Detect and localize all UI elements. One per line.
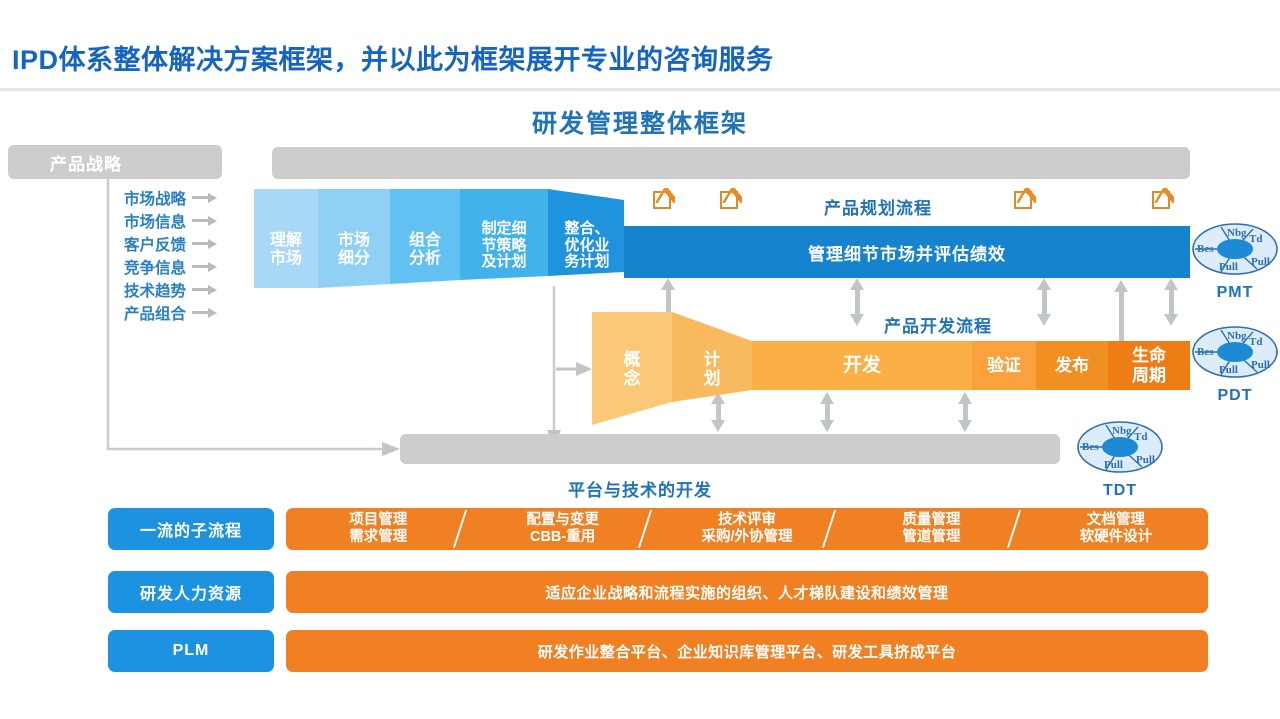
subprocess-cell[interactable]: 技术评审采购/外协管理 xyxy=(655,512,839,546)
funnel-stage-market-segmentation[interactable]: 市场细分 xyxy=(318,225,390,275)
input-label: 技术趋势 xyxy=(124,279,186,301)
team-wheel-icon: Nbg Td Bes Pull Pull xyxy=(1076,420,1164,476)
funnel-stage-integrate-optimize[interactable]: 整合、优化业务计划 xyxy=(550,215,624,277)
team-tdt[interactable]: Nbg Td Bes Pull Pull TDT xyxy=(1075,420,1165,500)
dev-stage-label: 验证 xyxy=(987,356,1021,375)
checkmark-icon xyxy=(1014,191,1032,209)
team-label: PDT xyxy=(1190,387,1280,405)
dev-stage-concept[interactable]: 概念 xyxy=(600,345,664,393)
arrow-right-icon xyxy=(192,262,218,272)
row-plm-key[interactable]: PLM xyxy=(108,630,274,672)
funnel-stage-portfolio-analysis[interactable]: 组合分析 xyxy=(390,225,460,275)
team-label: TDT xyxy=(1075,482,1165,500)
dev-stage-develop[interactable]: 开发 xyxy=(752,341,972,390)
svg-text:Pull: Pull xyxy=(1251,256,1270,268)
input-label: 产品组合 xyxy=(124,302,186,324)
checkmark-icon xyxy=(720,191,738,209)
dev-stage-lifecycle[interactable]: 生命周期 xyxy=(1108,341,1190,390)
svg-text:Bes: Bes xyxy=(1197,243,1214,255)
input-row: 技术趋势 xyxy=(124,278,218,301)
arrow-right-icon xyxy=(192,285,218,295)
funnel-stage-label: 整合、优化业务计划 xyxy=(564,221,609,271)
strategy-inputs: 市场战略 市场信息 客户反馈 竞争信息 技术趋势 产品组合 xyxy=(124,186,218,324)
arrow-right-icon xyxy=(192,239,218,249)
svg-text:Bes: Bes xyxy=(1197,346,1214,358)
funnel-stage-understand-market[interactable]: 理解市场 xyxy=(254,225,318,275)
input-row: 市场信息 xyxy=(124,209,218,232)
svg-text:Nbg: Nbg xyxy=(1112,425,1132,437)
product-strategy-box[interactable]: 产品战略 xyxy=(8,145,222,179)
dev-stage-label: 概念 xyxy=(624,350,641,388)
strategy-connector-arrow xyxy=(382,442,400,456)
row-subprocess-body: 项目管理需求管理 配置与变更CBB-重用 技术评审采购/外协管理 质量管理管道管… xyxy=(286,508,1208,550)
row-subprocess-key[interactable]: 一流的子流程 xyxy=(108,508,274,550)
development-process-label: 产品开发流程 xyxy=(884,312,992,337)
svg-text:Pull: Pull xyxy=(1251,359,1270,371)
svg-text:Pull: Pull xyxy=(1136,454,1155,466)
input-label: 客户反馈 xyxy=(124,233,186,255)
row-hr-body[interactable]: 适应企业战略和流程实施的组织、人才梯队建设和绩效管理 xyxy=(286,571,1208,613)
input-label: 竞争信息 xyxy=(124,256,186,278)
dev-stage-label: 计划 xyxy=(704,350,721,388)
input-label: 市场战略 xyxy=(124,187,186,209)
input-row: 市场战略 xyxy=(124,186,218,209)
subprocess-cell[interactable]: 文档管理软硬件设计 xyxy=(1024,512,1208,546)
svg-text:Nbg: Nbg xyxy=(1227,227,1247,239)
svg-text:Td: Td xyxy=(1249,336,1262,348)
team-wheel-icon: Nbg Td Bes Pull Pull xyxy=(1191,222,1279,278)
svg-text:Pull: Pull xyxy=(1219,261,1238,273)
svg-text:Nbg: Nbg xyxy=(1227,330,1247,342)
row-plm: PLM 研发作业整合平台、企业知识库管理平台、研发工具挤成平台 xyxy=(108,630,1208,672)
checkmark-icon xyxy=(653,191,671,209)
planning-process-bar-label: 管理细节市场并评估绩效 xyxy=(808,240,1006,265)
funnel-stage-detail-strategy[interactable]: 制定细节策略及计划 xyxy=(460,215,548,277)
arrow-right-icon xyxy=(192,308,218,318)
arrow-right-icon xyxy=(192,216,218,226)
input-row: 产品组合 xyxy=(124,301,218,324)
row-subprocess: 一流的子流程 项目管理需求管理 配置与变更CBB-重用 技术评审采购/外协管理 … xyxy=(108,508,1208,550)
team-pmt[interactable]: Nbg Td Bes Pull Pull PMT xyxy=(1190,222,1280,302)
svg-text:Td: Td xyxy=(1134,431,1147,443)
team-wheel-icon: Nbg Td Bes Pull Pull xyxy=(1191,325,1279,381)
subprocess-cell[interactable]: 质量管理管道管理 xyxy=(839,512,1023,546)
dev-stage-label: 生命周期 xyxy=(1132,346,1166,384)
input-row: 竞争信息 xyxy=(124,255,218,278)
planning-process-bar[interactable]: 管理细节市场并评估绩效 xyxy=(624,226,1190,278)
subprocess-cell[interactable]: 项目管理需求管理 xyxy=(286,512,470,546)
input-row: 客户反馈 xyxy=(124,232,218,255)
vertical-double-arrows-lower xyxy=(711,392,972,432)
checkmark-icon xyxy=(1152,191,1170,209)
platform-grey-bar xyxy=(400,434,1060,464)
dev-stage-label: 发布 xyxy=(1055,356,1089,375)
row-hr-key[interactable]: 研发人力资源 xyxy=(108,571,274,613)
row-hr: 研发人力资源 适应企业战略和流程实施的组织、人才梯队建设和绩效管理 xyxy=(108,571,1208,613)
arrow-right-icon xyxy=(192,193,218,203)
svg-text:Pull: Pull xyxy=(1219,364,1238,376)
svg-text:Bes: Bes xyxy=(1082,441,1099,453)
top-grey-bar xyxy=(272,147,1190,179)
team-label: PMT xyxy=(1190,284,1280,302)
svg-text:Td: Td xyxy=(1249,233,1262,245)
team-pdt[interactable]: Nbg Td Bes Pull Pull PDT xyxy=(1190,325,1280,405)
row-plm-body[interactable]: 研发作业整合平台、企业知识库管理平台、研发工具挤成平台 xyxy=(286,630,1208,672)
funnel-stage-label: 理解市场 xyxy=(270,232,302,268)
dev-stage-label: 开发 xyxy=(843,355,881,376)
input-label: 市场信息 xyxy=(124,210,186,232)
subprocess-cell[interactable]: 配置与变更CBB-重用 xyxy=(470,512,654,546)
dev-input-arrow xyxy=(556,362,592,376)
funnel-stage-label: 市场细分 xyxy=(338,232,370,268)
dev-stage-plan[interactable]: 计划 xyxy=(680,345,744,393)
dev-stage-release[interactable]: 发布 xyxy=(1036,341,1108,390)
dev-stage-verify[interactable]: 验证 xyxy=(972,341,1036,390)
funnel-stage-label: 组合分析 xyxy=(409,232,441,268)
planning-process-label: 产品规划流程 xyxy=(824,194,932,219)
svg-text:Pull: Pull xyxy=(1104,459,1123,471)
funnel-stage-label: 制定细节策略及计划 xyxy=(481,221,526,271)
